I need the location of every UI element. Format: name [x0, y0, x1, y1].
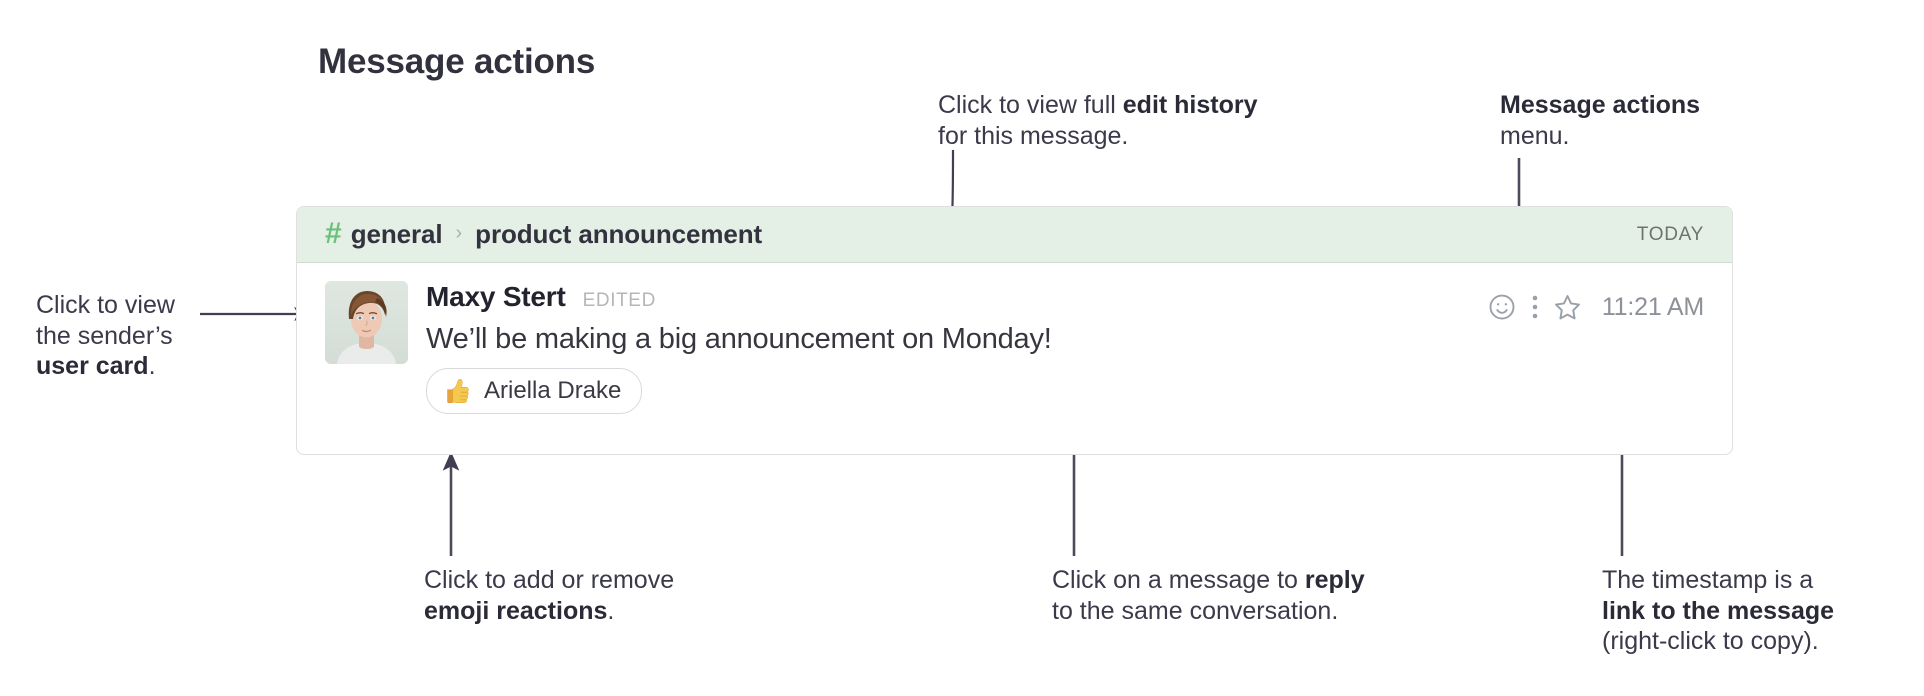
chevron-right-icon: ›: [455, 222, 462, 245]
annotation-line: the sender’s: [36, 321, 175, 352]
star-icon[interactable]: [1548, 287, 1588, 327]
annotation-tail: .: [607, 597, 614, 625]
annotation-line: user card.: [36, 351, 175, 382]
hash-icon: #: [325, 219, 342, 249]
annotation-line: menu.: [1500, 121, 1700, 152]
topic-name[interactable]: product announcement: [475, 219, 762, 250]
message-card: # general › product announcement TODAY: [296, 206, 1733, 455]
avatar[interactable]: [325, 281, 408, 364]
emoji-reactions-annotation: Click to add or remove emoji reactions.: [424, 565, 674, 626]
annotation-line: Click to view: [36, 290, 175, 321]
annotation-line: Click to add or remove: [424, 565, 674, 596]
annotation-line: link to the message: [1602, 596, 1834, 627]
message-text[interactable]: We’ll be making a big announcement on Mo…: [426, 323, 1704, 356]
annotation-emphasis: Message actions: [1500, 91, 1700, 119]
channel-header: # general › product announcement TODAY: [297, 207, 1732, 263]
edited-badge[interactable]: EDITED: [583, 290, 656, 312]
channel-name[interactable]: general: [351, 219, 443, 250]
reply-annotation: Click on a message to reply to the same …: [1052, 565, 1365, 626]
message-actions-annotation: Message actions menu.: [1500, 90, 1700, 151]
annotation-lead: Click to view full: [938, 91, 1123, 119]
annotation-line: The timestamp is a: [1602, 565, 1834, 596]
annotation-tail: .: [149, 352, 156, 380]
user-card-annotation: Click to view the sender’s user card.: [36, 290, 175, 382]
annotation-line: Message actions: [1500, 90, 1700, 121]
annotation-line: Click to view full edit history: [938, 90, 1258, 121]
edit-history-annotation: Click to view full edit history for this…: [938, 90, 1258, 151]
page-title: Message actions: [318, 42, 595, 82]
vertical-dots-icon[interactable]: [1522, 287, 1548, 327]
reaction-names: Ariella Drake: [484, 377, 621, 405]
annotation-emphasis: link to the message: [1602, 597, 1834, 625]
annotation-emphasis: user card: [36, 352, 149, 380]
annotation-line: to the same conversation.: [1052, 596, 1365, 627]
reaction-row: Ariella Drake: [426, 368, 1704, 414]
annotation-emphasis: emoji reactions: [424, 597, 607, 625]
reaction-pill[interactable]: Ariella Drake: [426, 368, 642, 414]
annotation-lead: Click on a message to: [1052, 566, 1305, 594]
message-row[interactable]: Maxy Stert EDITED We’ll be making a big …: [297, 263, 1732, 414]
timestamp-annotation: The timestamp is a link to the message (…: [1602, 565, 1834, 657]
annotation-line: emoji reactions.: [424, 596, 674, 627]
sender-name[interactable]: Maxy Stert: [426, 281, 566, 313]
annotation-line: Click on a message to reply: [1052, 565, 1365, 596]
annotation-emphasis: edit history: [1123, 91, 1258, 119]
annotation-line: (right-click to copy).: [1602, 626, 1834, 657]
message-actions-toolbar: 11:21 AM: [1482, 287, 1704, 327]
message-timestamp[interactable]: 11:21 AM: [1602, 293, 1704, 322]
annotation-emphasis: reply: [1305, 566, 1365, 594]
emoji-reaction-icon[interactable]: [1482, 287, 1522, 327]
date-label: TODAY: [1637, 224, 1704, 246]
thumbs-up-emoji: [441, 376, 471, 406]
annotation-line: for this message.: [938, 121, 1258, 152]
